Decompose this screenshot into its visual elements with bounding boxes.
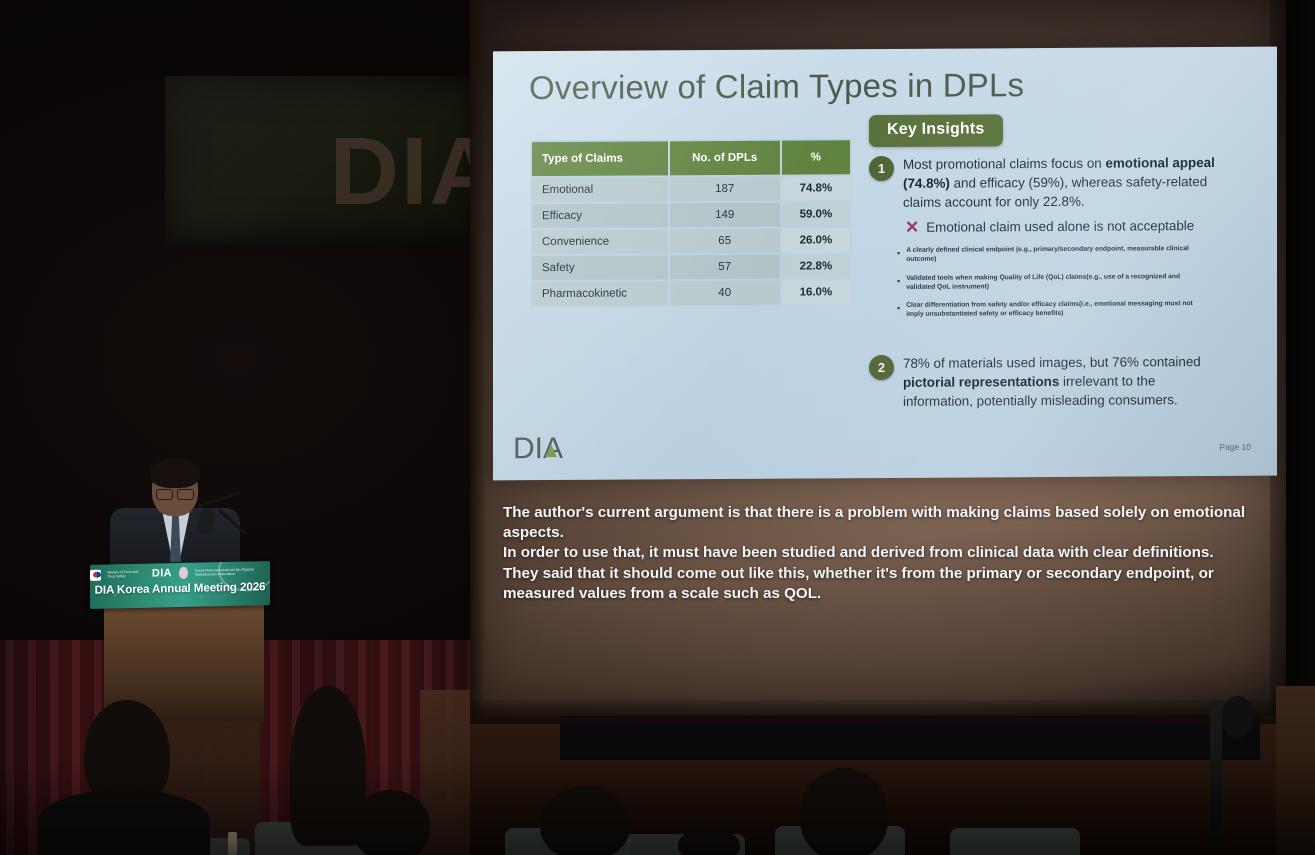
list-item: ▪ A clearly defined clinical endpoint (e…: [897, 245, 1197, 265]
seat-back: [950, 828, 1080, 855]
warning-text: Emotional claim used alone is not accept…: [926, 218, 1194, 235]
col-header-percent: %: [781, 139, 851, 175]
bullet-dot-icon: ▪: [897, 275, 900, 293]
sub-bullet-text: A clearly defined clinical endpoint (e.g…: [906, 245, 1197, 264]
list-item: ▪ Validated tools when making Quality of…: [897, 273, 1197, 293]
cell-claim-type: Safety: [531, 254, 669, 281]
insight-item-1: 1 Most promotional claims focus on emoti…: [869, 153, 1223, 212]
table-row: Convenience 65 26.0%: [531, 227, 851, 255]
cell-count: 65: [669, 228, 781, 255]
water-bottle: [228, 832, 237, 855]
dia-triangle-icon: [545, 444, 557, 457]
x-mark-icon: ✕: [905, 219, 919, 236]
cell-claim-type: Emotional: [531, 176, 669, 203]
cell-count: 40: [669, 280, 781, 307]
audience-head: [352, 790, 430, 855]
table-row: Efficacy 149 59.0%: [531, 201, 851, 229]
table-row: Pharmacokinetic 40 16.0%: [531, 279, 851, 307]
sign-dia-logo: DIA: [152, 567, 172, 579]
warning-line: ✕ Emotional claim used alone is not acce…: [905, 217, 1194, 236]
slide-title: Overview of Claim Types in DPLs: [529, 66, 1024, 107]
claim-types-table: Type of Claims No. of DPLs % Emotional 1…: [530, 138, 852, 308]
sub-bullet-text: Validated tools when making Quality of L…: [906, 273, 1197, 292]
kpbma-logo-icon: [179, 567, 188, 579]
caption-line: The author's current argument is that th…: [503, 503, 1273, 543]
cell-claim-type: Convenience: [531, 228, 669, 255]
caption-subtitle: The author's current argument is that th…: [503, 503, 1273, 604]
venue-banner: DIA: [165, 76, 485, 244]
audience-head: [678, 828, 740, 855]
mfds-logo-label: Ministry of Food and Drug Safety: [108, 569, 145, 578]
cell-count: 187: [669, 176, 781, 203]
cell-count: 57: [669, 254, 781, 281]
table-row: Emotional 187 74.8%: [531, 175, 851, 203]
screen-bottom-shadow: [470, 700, 1286, 724]
tripod-camera-head: [1222, 696, 1254, 738]
insight-text: 78% of materials used images, but 76% co…: [903, 352, 1223, 411]
audience-head: [540, 786, 630, 855]
table-row: Safety 57 22.8%: [531, 253, 851, 281]
wall-panel-right: [1276, 686, 1315, 855]
cell-percent: 74.8%: [781, 175, 851, 201]
speaker-glasses: [156, 489, 194, 498]
col-header-type: Type of Claims: [531, 140, 669, 177]
list-item: ▪ Clear differentiation from safety and/…: [897, 300, 1197, 320]
slide-page-number: Page 10: [1219, 442, 1251, 452]
speaker-hair: [150, 458, 200, 488]
insight-number-badge: 2: [869, 355, 894, 380]
insight-number-badge: 1: [869, 156, 894, 181]
col-header-count: No. of DPLs: [669, 140, 781, 177]
cell-count: 149: [669, 202, 781, 229]
audience-head: [800, 768, 888, 855]
cell-claim-type: Efficacy: [531, 202, 669, 229]
dia-logo: DIA: [513, 434, 557, 464]
caption-line: In order to use that, it must have been …: [503, 543, 1273, 563]
cell-claim-type: Pharmacokinetic: [531, 280, 669, 307]
sub-bullet-list: ▪ A clearly defined clinical endpoint (e…: [897, 245, 1197, 330]
caption-line: They said that it should come out like t…: [503, 564, 1273, 604]
key-insights-badge: Key Insights: [869, 114, 1003, 147]
presentation-slide: Overview of Claim Types in DPLs Type of …: [493, 47, 1277, 481]
table-header-row: Type of Claims No. of DPLs %: [531, 139, 851, 177]
insight-text: Most promotional claims focus on emotion…: [903, 153, 1223, 212]
auditorium-scene: DIA Overview of Claim Types in DPLs Type…: [0, 0, 1315, 855]
slide-content: Overview of Claim Types in DPLs Type of …: [493, 47, 1277, 481]
insight-item-2: 2 78% of materials used images, but 76% …: [869, 352, 1223, 411]
mfds-logo-icon: [90, 569, 101, 580]
bullet-dot-icon: ▪: [897, 247, 900, 265]
tripod-stand: [1210, 700, 1222, 855]
cell-percent: 16.0%: [781, 279, 851, 305]
sub-bullet-text: Clear differentiation from safety and/or…: [906, 300, 1197, 319]
cell-percent: 22.8%: [781, 253, 851, 279]
audience-shoulders: [38, 790, 210, 855]
podium-sign: Ministry of Food and Drug Safety DIA Kor…: [90, 561, 270, 609]
cell-percent: 59.0%: [781, 201, 851, 227]
screen-edge-left: [470, 0, 486, 716]
bullet-dot-icon: ▪: [897, 302, 900, 320]
cell-percent: 26.0%: [781, 227, 851, 253]
kpbma-logo-label: Korea Pharmaceutical and Bio-Pharma Manu…: [195, 567, 270, 577]
